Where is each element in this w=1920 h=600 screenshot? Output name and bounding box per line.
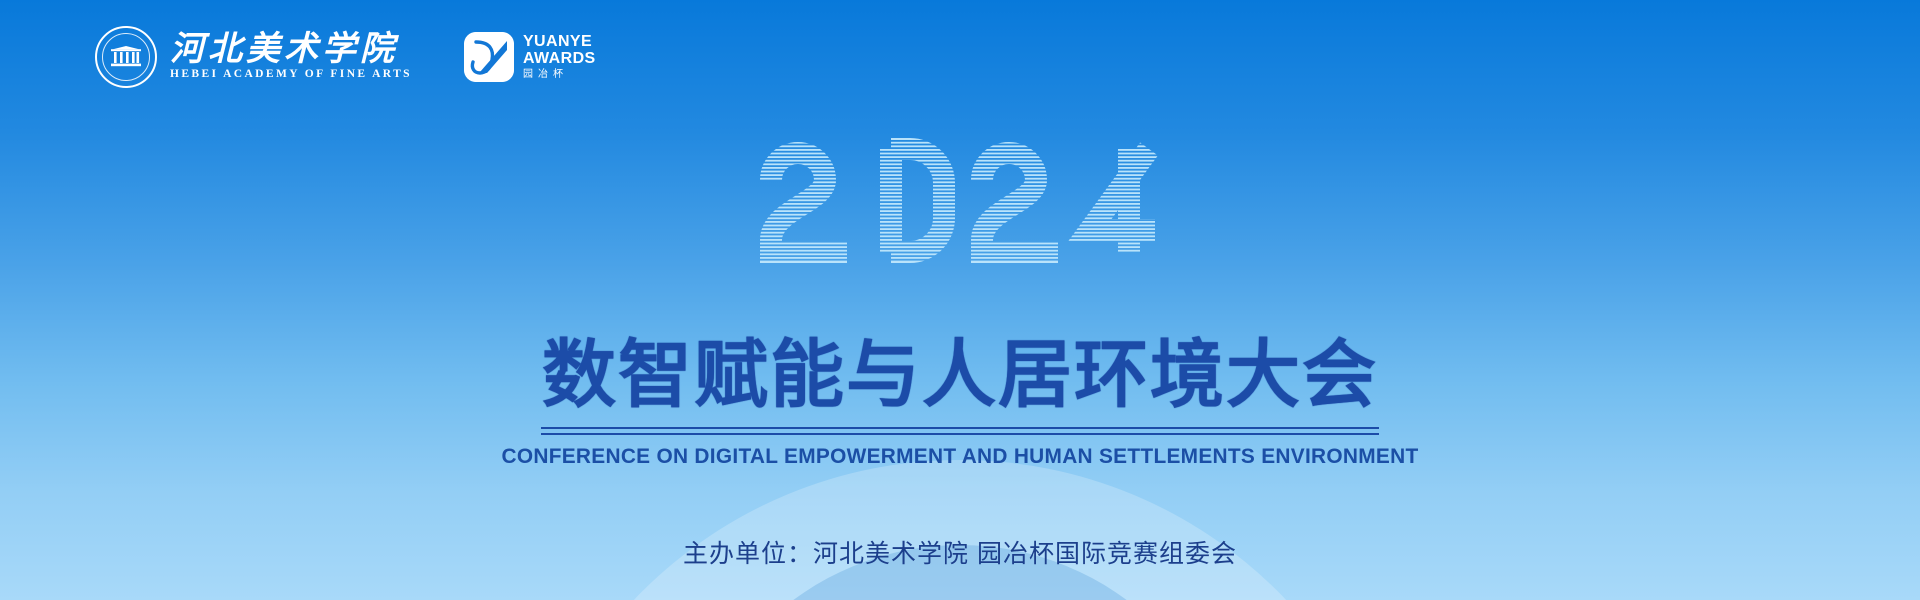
page-title: 数智赋能与人居环境大会 bbox=[0, 338, 1920, 412]
gate-emblem-icon bbox=[95, 26, 157, 88]
year-2024-graphic bbox=[760, 138, 1160, 268]
hebei-name-en: HEBEI ACADEMY OF FINE ARTS bbox=[170, 69, 412, 81]
page-subtitle: CONFERENCE ON DIGITAL EMPOWERMENT AND HU… bbox=[29, 444, 1891, 469]
yuanye-line2: AWARDS bbox=[523, 51, 596, 67]
gate-emblem-glyph bbox=[111, 46, 141, 68]
title-block: 数智赋能与人居环境大会 CONFERENCE ON DIGITAL EMPOWE… bbox=[0, 338, 1920, 469]
decorative-arc-outer bbox=[510, 460, 1410, 600]
yuanye-mark-icon bbox=[464, 32, 514, 82]
conference-banner: 河北美术学院 HEBEI ACADEMY OF FINE ARTS YUANYE… bbox=[0, 0, 1920, 600]
yuanye-awards-logo: YUANYE AWARDS 园冶杯 bbox=[464, 32, 596, 82]
hebei-academy-logo: 河北美术学院 HEBEI ACADEMY OF FINE ARTS bbox=[95, 26, 412, 88]
yuanye-line1: YUANYE bbox=[523, 34, 596, 50]
divider-line-bottom bbox=[541, 433, 1379, 435]
title-divider bbox=[541, 427, 1379, 435]
organizer-line: 主办单位：河北美术学院 园冶杯国际竞赛组委会 bbox=[0, 534, 1920, 570]
hebei-name-cn: 河北美术学院 bbox=[170, 33, 412, 67]
yuanye-mark-glyph bbox=[464, 32, 514, 82]
yuanye-name-cn: 园冶杯 bbox=[523, 70, 596, 80]
year-2024-svg bbox=[760, 138, 1160, 263]
logo-bar: 河北美术学院 HEBEI ACADEMY OF FINE ARTS YUANYE… bbox=[95, 26, 596, 88]
divider-line-top bbox=[541, 427, 1379, 429]
